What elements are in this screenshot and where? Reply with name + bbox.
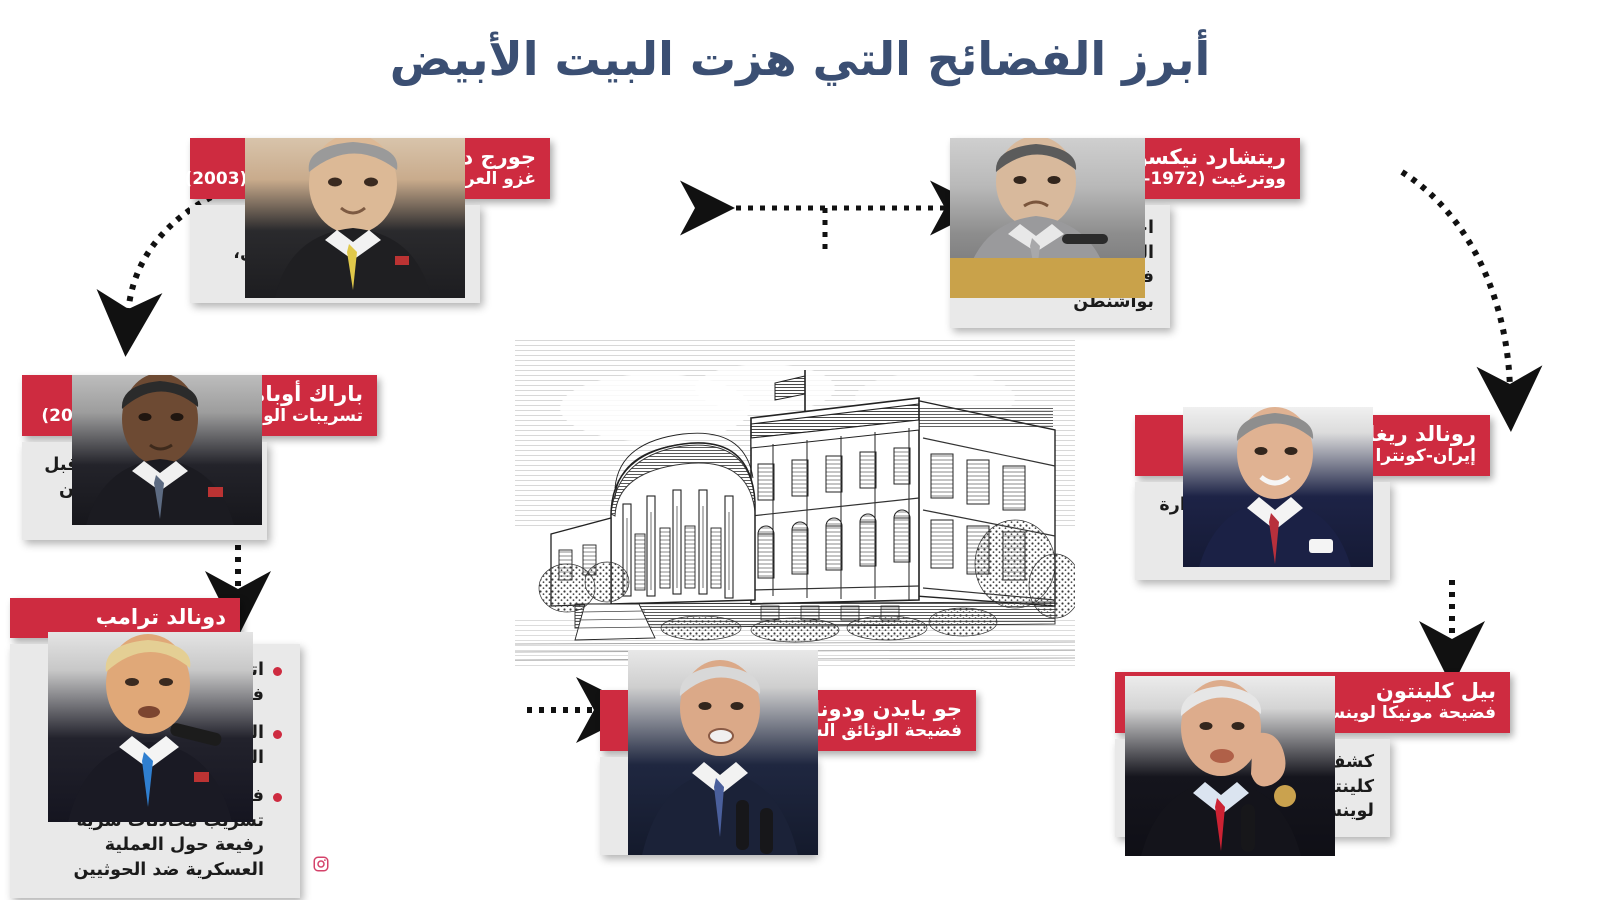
donald-trump-photo [48, 632, 253, 822]
connector-nixon-reagan [1402, 172, 1510, 390]
card-trump: دونالد ترامب اتهامات التدخل الروسي في ال… [10, 598, 520, 898]
card-nixon: ريتشارد نيكسون ووترغيت (1972–1974) اخترا… [950, 138, 1360, 328]
page-title: أبرز الفضائح التي هزت البيت الأبيض [0, 32, 1600, 86]
card-bush: جورج دبليو بوش غزو العراق وأسلحة الدمار … [190, 138, 655, 303]
president-name: دونالد ترامب [24, 605, 226, 629]
richard-nixon-photo [950, 138, 1145, 298]
george-w-bush-photo [245, 138, 465, 298]
ronald-reagan-photo [1183, 407, 1373, 567]
infographic-canvas: أبرز الفضائح التي هزت البيت الأبيض [0, 0, 1600, 900]
card-reagan: رونالد ريغان إيران-كونترا (1985–1987) تو… [1135, 415, 1575, 580]
white-house-illustration [515, 338, 1075, 668]
joe-biden-photo [628, 650, 818, 855]
card-biden: جو بايدن ودونالد ترامب فضيحة الوثائق الس… [600, 690, 1010, 855]
card-clinton: بيل كلينتون فضيحة مونيكا لوينسكي (1998) … [1115, 672, 1575, 837]
card-obama: باراك أوباما تسريبات الوثائق السرية (201… [22, 375, 452, 540]
instagram-icon[interactable] [311, 854, 332, 875]
bill-clinton-photo [1125, 676, 1335, 856]
barack-obama-photo [72, 375, 262, 525]
